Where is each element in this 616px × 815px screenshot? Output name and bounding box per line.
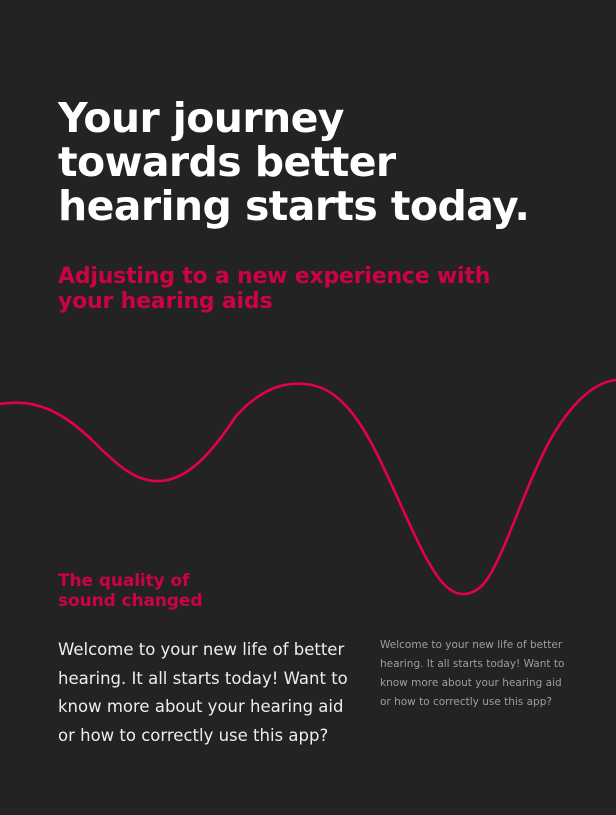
page-title: Your journey towards better hearing star… — [58, 96, 588, 228]
content-area: Your journey towards better hearing star… — [0, 0, 616, 815]
onboarding-screen: Your journey towards better hearing star… — [0, 0, 616, 815]
section-body-primary: Welcome to your new life of better heari… — [58, 636, 348, 750]
page-subtitle: Adjusting to a new experience with your … — [58, 264, 578, 314]
section-heading-quality-of-sound: The quality of sound changed — [58, 571, 378, 611]
section-body-secondary: Welcome to your new life of better heari… — [380, 636, 570, 712]
